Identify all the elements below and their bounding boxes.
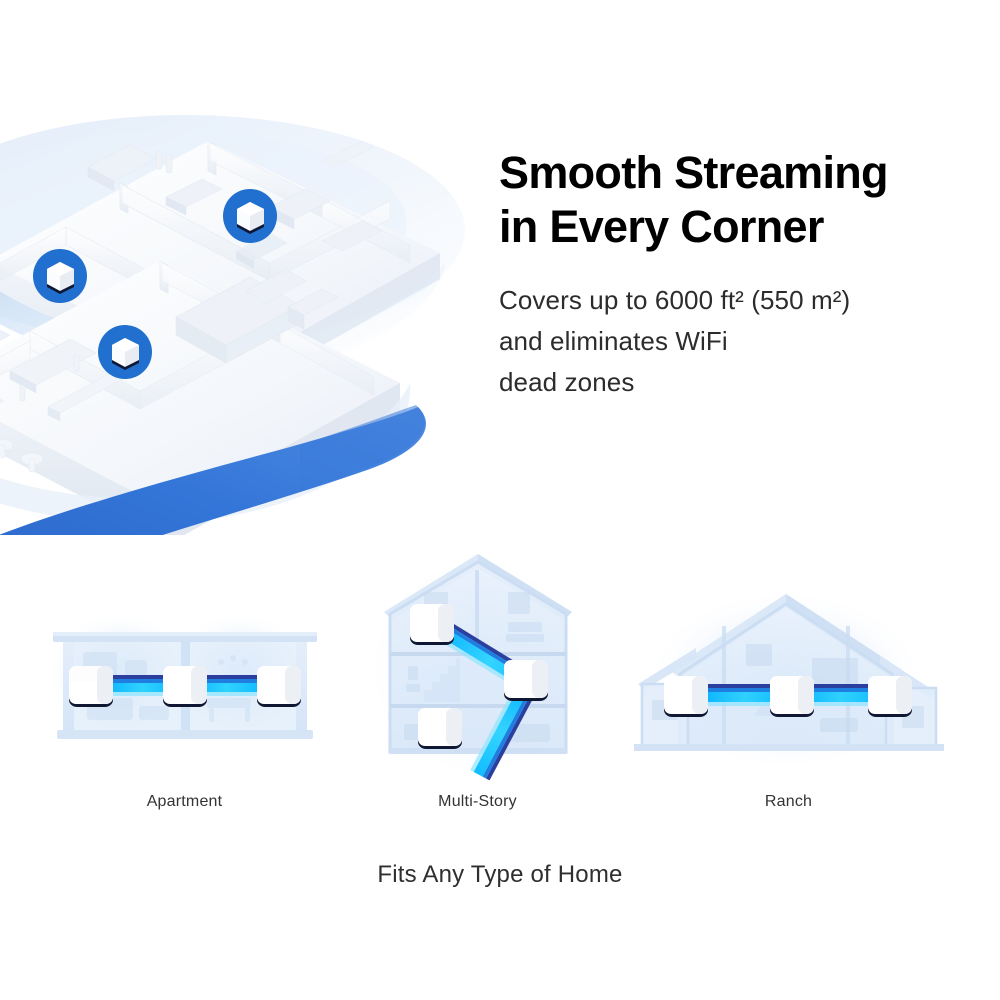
apartment-illustration [18,548,351,798]
subcopy-line-1: Covers up to 6000 ft² (550 m²) [499,280,969,321]
home-type-apartment: Apartment [18,548,351,838]
mesh-node-badge-upper-floor-left [33,249,87,303]
multi-story-illustration [311,548,644,798]
ranch-house [634,594,944,751]
mesh-node-1 [69,666,113,707]
mesh-node-1 [664,676,708,717]
hero-subcopy: Covers up to 6000 ft² (550 m²) and elimi… [499,280,969,403]
mesh-node-3 [257,666,301,707]
ranch-illustration [622,548,955,798]
home-type-label-apartment: Apartment [18,793,351,811]
home-type-ranch: Ranch [622,548,955,838]
mesh-node-mid-floor [504,660,548,701]
isometric-home-illustration [0,55,490,535]
mesh-node-2 [163,666,207,707]
hero-copy: Smooth Streaming in Every Corner Covers … [499,146,969,403]
headline-line-2: in Every Corner [499,200,969,254]
subcopy-line-3: dead zones [499,362,969,403]
mesh-node-2 [770,676,814,717]
mesh-node-badge-lower-floor [98,325,152,379]
headline-line-1: Smooth Streaming [499,147,888,198]
promo-page: Smooth Streaming in Every Corner Covers … [0,0,1000,1000]
home-type-multi-story: Multi-Story [311,548,644,838]
hero-section: Smooth Streaming in Every Corner Covers … [0,0,1000,545]
home-type-label-multi-story: Multi-Story [311,793,644,811]
subcopy-line-2: and eliminates WiFi [499,321,969,362]
footer-caption: Fits Any Type of Home [0,861,1000,889]
mesh-node-badge-upper-floor-right [223,189,277,243]
mesh-node-3 [868,676,912,717]
mesh-node-top-floor [410,604,454,645]
mesh-node-ground-floor [418,708,462,749]
home-type-label-ranch: Ranch [622,793,955,811]
page-title: Smooth Streaming in Every Corner [499,146,969,254]
home-types-section: Apartment [0,548,1000,838]
